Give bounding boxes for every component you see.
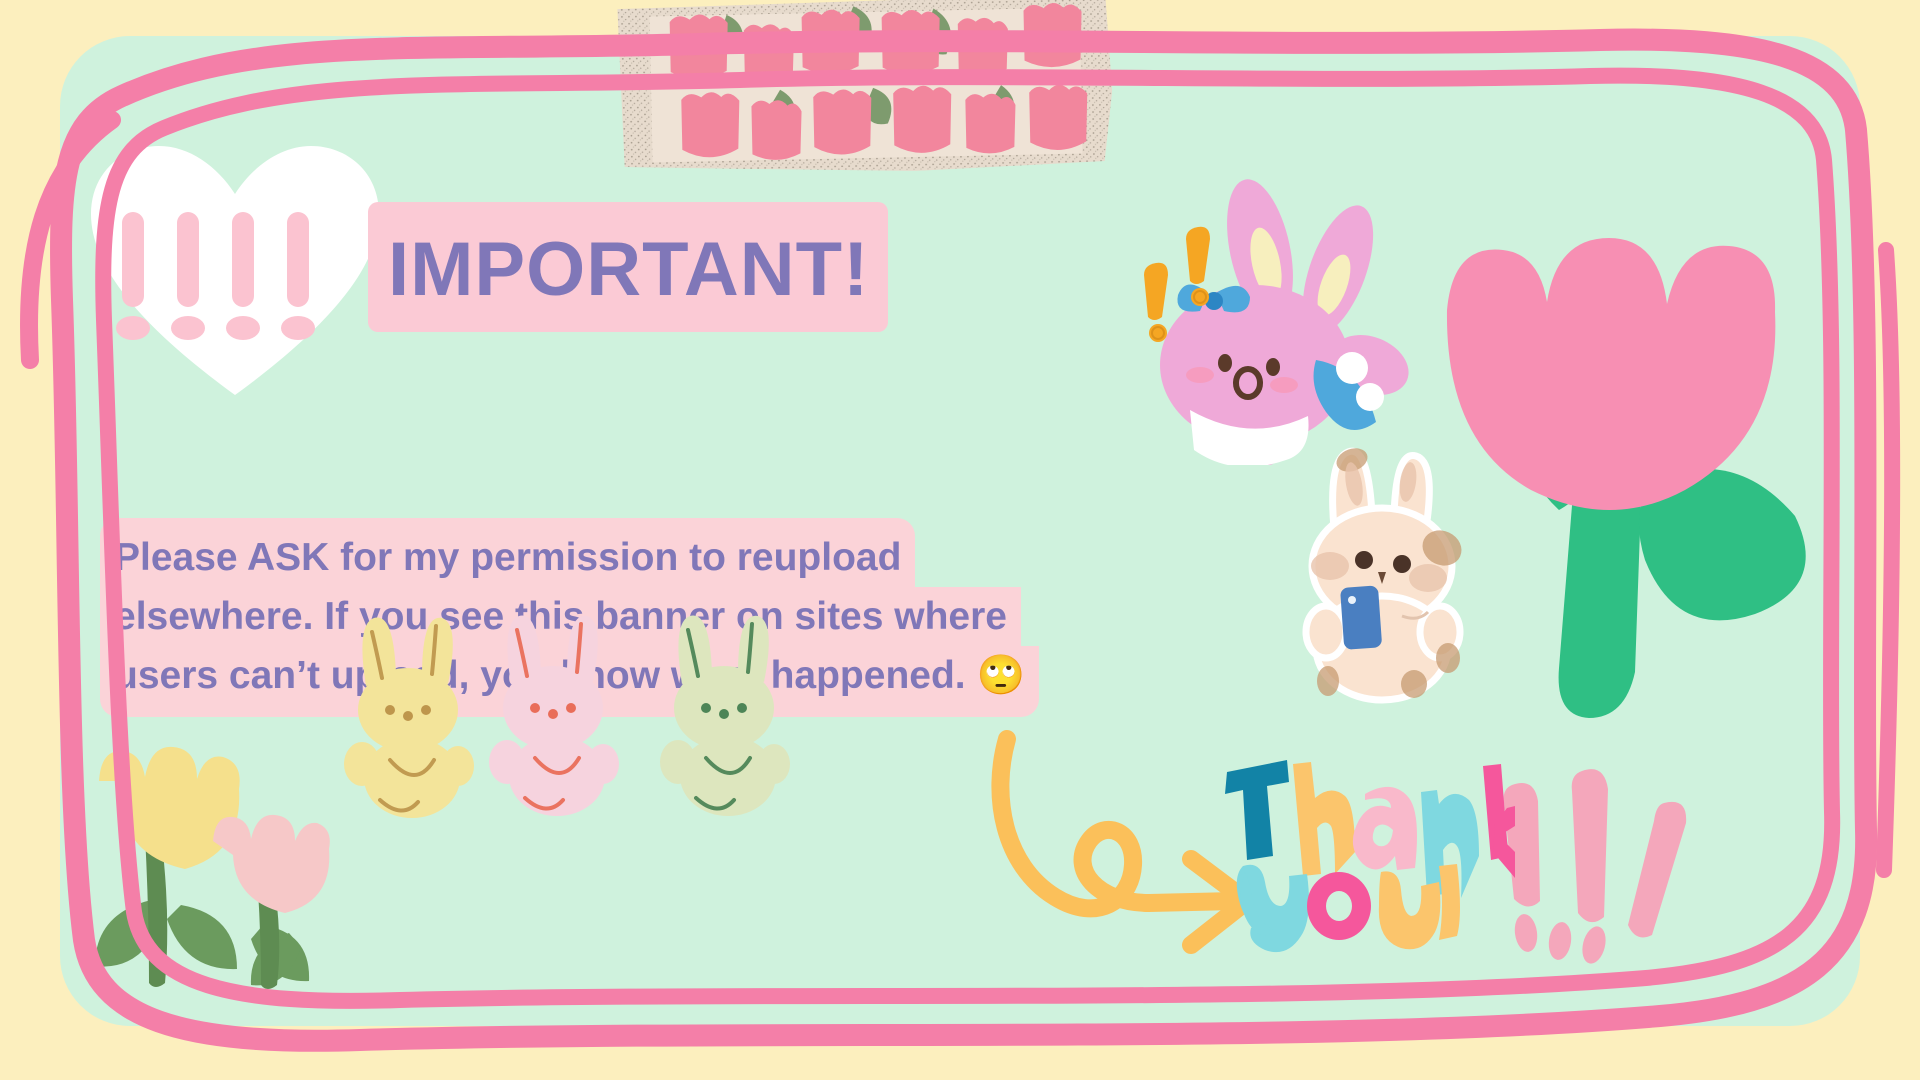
gummy-bunny-yellow — [336, 610, 486, 825]
gummy-bunny-pink — [481, 608, 631, 823]
washi-tape-tulips — [613, 0, 1117, 177]
letter-T — [1225, 760, 1289, 860]
banner-canvas: IMPORTANT! — [0, 0, 1920, 1080]
thank-you-lettering — [1215, 748, 1515, 963]
gummy-bunny-green — [652, 608, 802, 823]
yellow-tulip — [85, 745, 355, 1000]
pink-exclamation-trio — [1478, 765, 1748, 1000]
message-line-1: Please ASK for my permission to reupload — [100, 518, 915, 587]
exclamation-marks-orange — [1140, 215, 1250, 350]
white-heart-exclaim — [85, 140, 385, 390]
page-title: IMPORTANT! — [388, 214, 888, 324]
